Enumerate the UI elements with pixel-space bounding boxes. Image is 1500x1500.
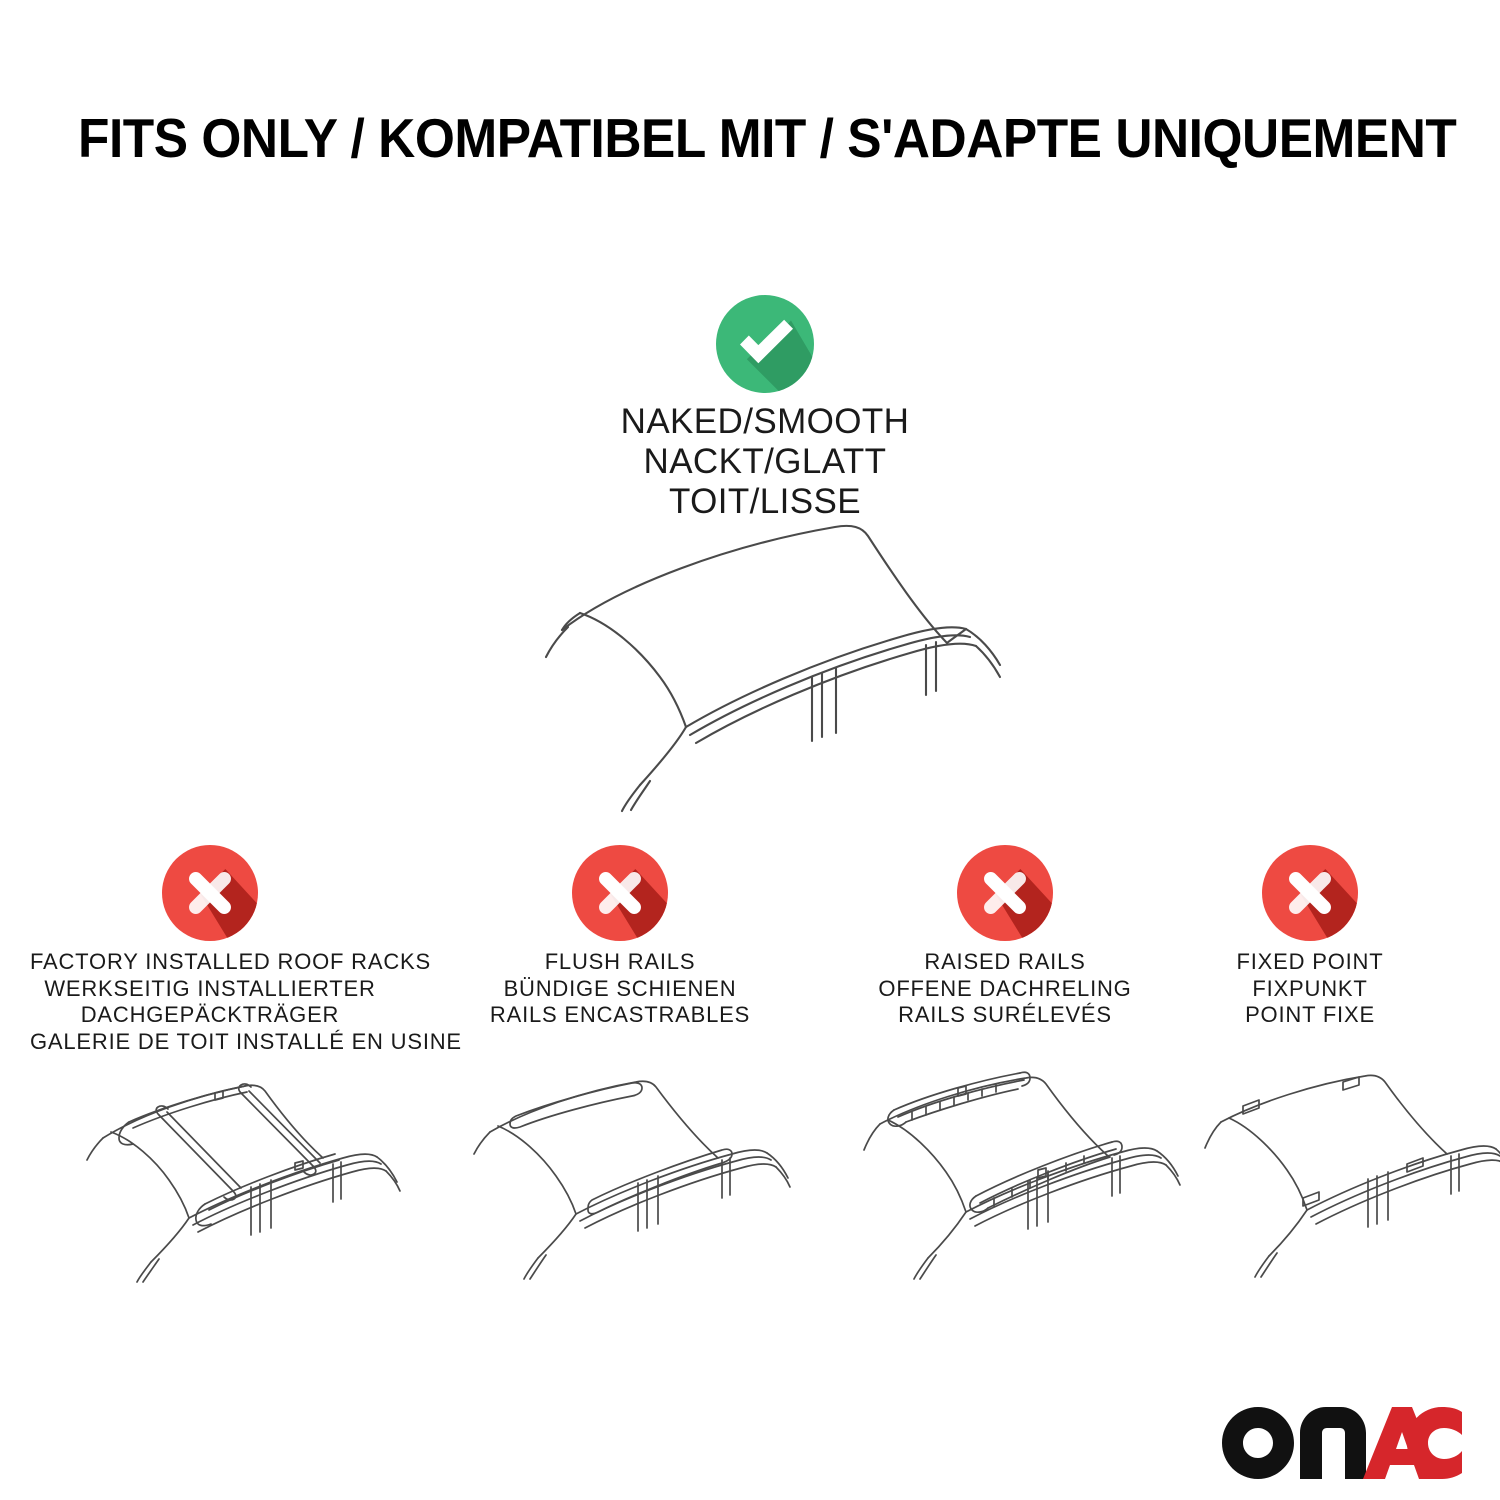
incompatible-label-factory-racks: FACTORY INSTALLED ROOF RACKS WERKSEITIG … <box>30 949 390 1055</box>
compatible-label-line-de: NACKT/GLATT <box>465 442 1065 482</box>
compatible-roof-label: NAKED/SMOOTH NACKT/GLATT TOIT/LISSE <box>465 402 1065 522</box>
label-line-en: FACTORY INSTALLED ROOF RACKS <box>30 949 390 976</box>
car-roof-naked-smooth-illustration <box>500 505 1030 815</box>
x-circle-icon <box>572 845 668 941</box>
incompatible-label-fixed-point: FIXED POINT FIXPUNKT POINT FIXE <box>1175 949 1445 1029</box>
label-line-de: FIXPUNKT <box>1175 976 1445 1003</box>
x-circle-icon <box>1262 845 1358 941</box>
label-line-en: FIXED POINT <box>1175 949 1445 976</box>
label-line-fr: GALERIE DE TOIT INSTALLÉ EN USINE <box>30 1029 390 1056</box>
car-roof-factory-rack-illustration <box>55 1060 405 1290</box>
label-line-en: FLUSH RAILS <box>455 949 785 976</box>
infographic-canvas: FITS ONLY / KOMPATIBEL MIT / S'ADAPTE UN… <box>0 0 1500 1500</box>
incompatible-label-raised-rails: RAISED RAILS OFFENE DACHRELING RAILS SUR… <box>840 949 1170 1029</box>
compatible-label-line-en: NAKED/SMOOTH <box>465 402 1065 442</box>
incompatible-fixed-point: FIXED POINT FIXPUNKT POINT FIXE <box>1175 845 1445 1029</box>
page-title: FITS ONLY / KOMPATIBEL MIT / S'ADAPTE UN… <box>78 106 1350 170</box>
label-line-de: BÜNDIGE SCHIENEN <box>455 976 785 1003</box>
label-line-de-1: WERKSEITIG INSTALLIERTER <box>30 976 390 1003</box>
incompatible-raised-rails: RAISED RAILS OFFENE DACHRELING RAILS SUR… <box>840 845 1170 1029</box>
incompatible-flush-rails: FLUSH RAILS BÜNDIGE SCHIENEN RAILS ENCAS… <box>455 845 785 1029</box>
logo-letter-m <box>1300 1407 1366 1479</box>
x-circle-icon <box>162 845 258 941</box>
label-line-de-2: DACHGEPÄCKTRÄGER <box>30 1002 390 1029</box>
x-circle-icon <box>957 845 1053 941</box>
label-line-de: OFFENE DACHRELING <box>840 976 1170 1003</box>
compatible-roof-type: NAKED/SMOOTH NACKT/GLATT TOIT/LISSE <box>465 295 1065 522</box>
label-line-fr: RAILS SURÉLEVÉS <box>840 1002 1170 1029</box>
omac-logo <box>1222 1403 1462 1481</box>
car-roof-flush-rails-illustration <box>450 1060 800 1290</box>
label-line-fr: RAILS ENCASTRABLES <box>455 1002 785 1029</box>
logo-letter-o <box>1222 1407 1294 1479</box>
car-roof-raised-rails-illustration <box>840 1060 1190 1290</box>
label-line-en: RAISED RAILS <box>840 949 1170 976</box>
incompatible-factory-installed-roof-racks: FACTORY INSTALLED ROOF RACKS WERKSEITIG … <box>30 845 390 1055</box>
car-roof-fixed-point-illustration <box>1185 1060 1500 1290</box>
incompatible-label-flush-rails: FLUSH RAILS BÜNDIGE SCHIENEN RAILS ENCAS… <box>455 949 785 1029</box>
label-line-fr: POINT FIXE <box>1175 1002 1445 1029</box>
check-circle-icon <box>716 295 814 393</box>
